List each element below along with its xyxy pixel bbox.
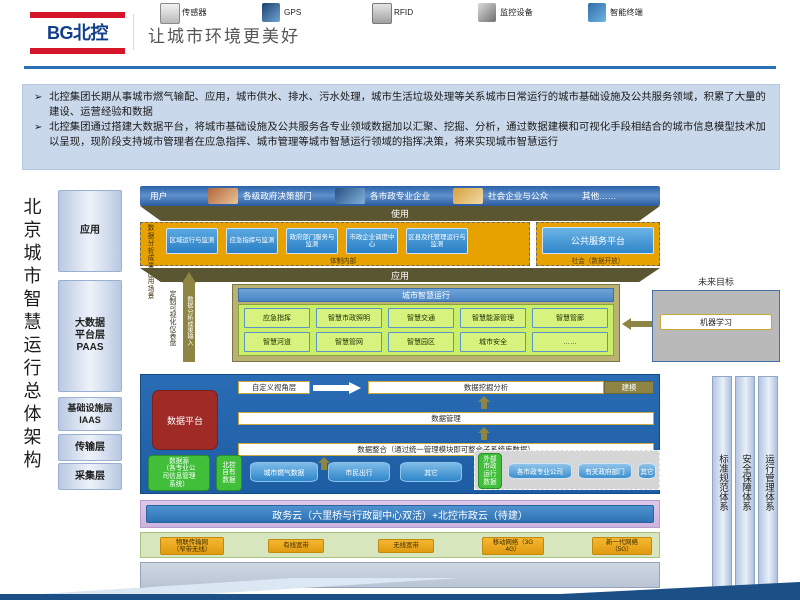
external-municipal-companies-label: 各市政专业公司 [517, 466, 563, 476]
app-button-dispatch-center[interactable]: 市政企业调度中心 [346, 228, 398, 254]
use-ribbon-label: 使用 [391, 207, 409, 220]
layer-bigdata-line2: 平台层 [75, 330, 105, 342]
smart-cell-river-label: 智慧河道 [263, 337, 291, 347]
app-button-district-ops-label: 区县及托管理运行与监测 [407, 234, 467, 249]
transmission-mobile-line2: 4G） [493, 546, 533, 553]
smart-cell-park[interactable]: 智慧园区 [388, 332, 454, 352]
slogan-text: 让城市环境更美好 [148, 22, 300, 47]
external-gov-departments-label: 有关政府部门 [585, 466, 625, 476]
app-button-gov-service-label: 政府部门服务与监测 [287, 234, 337, 249]
future-goal-label: 未来目标 [652, 274, 780, 288]
bottom-decoration [0, 574, 800, 600]
transmission-mobile-line1: 移动网络（3G [493, 539, 533, 546]
smart-cell-lighting-label: 智慧市政照明 [328, 313, 370, 323]
custom-view-layer[interactable]: 自定义视角层 [238, 381, 310, 394]
transmission-wireless-broadband[interactable]: 无线宽带 [378, 539, 434, 553]
smart-cell-pipe-network-label: 智慧管网 [335, 337, 363, 347]
smart-cell-energy[interactable]: 智慧能源管理 [460, 308, 526, 328]
source-citizen-travel-label: 市民出行 [345, 467, 372, 477]
smart-cell-city-safety-label: 城市安全 [479, 337, 507, 347]
layer-iaas-line1: 基础设施层 [67, 402, 112, 414]
data-input-arrow-icon: 数据分析成果输入 [182, 272, 196, 362]
transmission-wired-label: 有线宽带 [283, 542, 309, 549]
layer-infrastructure-iaas: 基础设施层 IAAS [58, 397, 122, 431]
government-cloud-button[interactable]: 政务云（六里桥与行政副中心双活）+北控市政云（待建） [146, 505, 654, 523]
transmission-iot-network[interactable]: 物联传输网 （窄带无线） [160, 537, 224, 555]
user-item-2: 社会企业与公众 [488, 186, 548, 206]
user-item-0: 各级政府决策部门 [243, 186, 312, 206]
internal-data-label: 北控 自有 数据 [216, 455, 242, 491]
transmission-nextgen-line1: 新一代网络 [606, 539, 638, 546]
data-platform-core-label: 数据平台 [167, 414, 203, 427]
smart-city-header-label: 城市智慧运行 [402, 290, 450, 301]
camera-icon [478, 3, 496, 22]
government-official-icon [208, 188, 238, 204]
app-button-emergency-command[interactable]: 应急指挥与监测 [226, 228, 278, 254]
apply-ribbon: 应用 [140, 268, 660, 282]
government-cloud-label: 政务云（六里桥与行政副中心双活）+北控市政云（待建） [272, 507, 528, 522]
internal-data-line2: 自有 [222, 469, 235, 477]
smart-cell-energy-label: 智慧能源管理 [472, 313, 514, 323]
smart-cell-river[interactable]: 智慧河道 [244, 332, 310, 352]
layer-column: 应用 大数据 平台层 PAAS 基础设施层 IAAS 传输层 采集层 [58, 190, 120, 588]
application-public-footer: 社会（数据开放） [540, 255, 656, 265]
logo-text: BG北控 [30, 19, 125, 47]
system-bar-operations: 运行管理体系 [758, 376, 778, 588]
logo-top-bar [30, 12, 125, 18]
smart-cell-traffic[interactable]: 智慧交通 [388, 308, 454, 328]
system-bar-security: 安全保障体系 [735, 376, 755, 588]
up-arrow-icon-1 [478, 396, 490, 409]
sensor-icon [160, 3, 180, 24]
layer-collection-label: 采集层 [75, 471, 105, 483]
source-other-internal-label: 其它 [424, 467, 438, 477]
public-citizens-icon [453, 188, 483, 204]
user-strip: 用户 各级政府决策部门 各市政专业企业 社会企业与公众 其他…… [140, 186, 660, 206]
layer-bigdata-line1: 大数据 [75, 318, 105, 330]
left-arrow-icon [622, 318, 652, 330]
apply-ribbon-label: 应用 [391, 269, 409, 282]
application-internal-footer-label: 体制内部 [330, 255, 356, 265]
user-item-1: 各市政专业企业 [370, 186, 430, 206]
public-service-platform-label: 公共服务平台 [571, 234, 625, 247]
external-data-label: 外部 市政 运行 数据 [478, 453, 502, 489]
bullet-marker-icon: ➢ [34, 91, 42, 106]
data-source-label: 数据源 （各专业公 司信息管理 系统） [148, 455, 210, 491]
layer-transmission-label: 传输层 [75, 442, 105, 454]
smart-cell-park-label: 智慧园区 [407, 337, 435, 347]
transmission-nextgen-line2: （5G） [606, 546, 638, 553]
smart-cell-emergency[interactable]: 应急指挥 [244, 308, 310, 328]
smart-cell-pipe-network[interactable]: 智慧管网 [316, 332, 382, 352]
layer-application: 应用 [58, 190, 122, 272]
smartphone-icon [588, 3, 606, 22]
smart-cell-pipe-gallery-label: 智慧管廊 [556, 313, 584, 323]
transmission-iot-line1: 物联传输网 [173, 539, 211, 546]
logo-divider [133, 14, 134, 50]
data-source-line3: 司信息管理 [163, 473, 196, 481]
data-mining-analysis-label: 数据挖掘分析 [464, 382, 508, 393]
logo-bottom-bar [30, 48, 125, 54]
collection-sensor-label: 传感器 [182, 4, 207, 22]
app-button-regional-ops[interactable]: 区域运行与监测 [166, 228, 218, 254]
external-data-line2: 市政 [483, 463, 496, 471]
smart-cell-city-safety[interactable]: 城市安全 [460, 332, 526, 352]
source-citizen-travel[interactable]: 市民出行 [328, 462, 390, 482]
public-service-platform-button[interactable]: 公共服务平台 [542, 227, 654, 254]
application-side-label: 数据分析成果应用场景 [141, 223, 161, 265]
machine-learning-label: 机器学习 [700, 317, 732, 328]
user-strip-title: 用户 [150, 186, 167, 206]
external-data-line3: 运行 [483, 471, 496, 479]
smart-cell-emergency-label: 应急指挥 [263, 313, 291, 323]
transmission-iot-line2: （窄带无线） [173, 546, 211, 553]
collection-smartterminal-label: 智能终端 [610, 4, 643, 22]
smart-cell-more[interactable]: …… [532, 332, 608, 352]
transmission-wired-broadband[interactable]: 有线宽带 [268, 539, 324, 553]
municipal-enterprise-icon [335, 188, 365, 204]
external-gov-departments[interactable]: 有关政府部门 [578, 463, 632, 479]
external-municipal-companies[interactable]: 各市政专业公司 [508, 463, 572, 479]
app-button-emergency-command-label: 应急指挥与监测 [230, 237, 275, 244]
data-source-line2: （各专业公 [163, 465, 196, 473]
header-rule [24, 66, 776, 69]
source-gas-data-label: 城市燃气数据 [264, 467, 305, 477]
rfid-icon [372, 3, 392, 24]
smart-city-header: 城市智慧运行 [238, 288, 614, 302]
application-public-footer-label: 社会（数据开放） [572, 255, 625, 265]
layer-collection: 采集层 [58, 463, 122, 490]
bullet-text-2: 北控集团通过搭建大数据平台，将城市基础设施及公共服务各专业领域数据加以汇聚、挖掘… [49, 122, 766, 148]
bullet-item-2: ➢ 北控集团通过搭建大数据平台，将城市基础设施及公共服务各专业领域数据加以汇聚、… [31, 121, 771, 150]
source-gas-data[interactable]: 城市燃气数据 [250, 462, 318, 482]
bullet-panel: ➢ 北控集团长期从事城市燃气输配、应用，城市供水、排水、污水处理，城市生活垃圾处… [22, 84, 780, 170]
smart-cell-pipe-gallery[interactable]: 智慧管廊 [532, 308, 608, 328]
external-other[interactable]: 其它 [638, 463, 656, 479]
company-logo: BG北控 [30, 12, 125, 54]
dashboard-vertical-label: 定制可视化仪表盘 [166, 276, 178, 360]
app-button-regional-ops-label: 区域运行与监测 [170, 237, 215, 244]
data-source-line4: 系统） [163, 481, 196, 489]
app-button-gov-service[interactable]: 政府部门服务与监测 [286, 228, 338, 254]
gps-icon [262, 3, 280, 22]
bullet-item-1: ➢ 北控集团长期从事城市燃气输配、应用，城市供水、排水、污水处理，城市生活垃圾处… [31, 91, 771, 120]
transmission-wireless-label: 无线宽带 [393, 542, 419, 549]
transmission-mobile-network[interactable]: 移动网络（3G 4G） [482, 537, 544, 555]
modeling-label: 建模 [622, 382, 637, 393]
source-other-internal[interactable]: 其它 [400, 462, 462, 482]
user-item-3: 其他…… [582, 186, 616, 206]
data-mining-analysis[interactable]: 数据挖掘分析 [368, 381, 604, 394]
up-arrow-icon-2 [478, 427, 490, 440]
modeling-bar[interactable]: 建模 [604, 381, 654, 394]
slide-canvas: BG北控 让城市环境更美好 ➢ 北控集团长期从事城市燃气输配、应用，城市供水、排… [0, 0, 800, 600]
collection-rfid-label: RFID [394, 4, 413, 22]
data-management-bar[interactable]: 数据管理 [238, 412, 654, 425]
machine-learning-button[interactable]: 机器学习 [660, 314, 772, 330]
layer-application-label: 应用 [80, 225, 100, 237]
layer-transmission: 传输层 [58, 434, 122, 461]
system-bar-standards: 标准规范体系 [712, 376, 732, 588]
page-title-vertical: 北京城市智慧运行总体架构 [18, 196, 48, 586]
internal-data-line3: 数据 [222, 477, 235, 485]
layer-bigdata-paas: 大数据 平台层 PAAS [58, 280, 122, 392]
transmission-next-gen-network[interactable]: 新一代网络 （5G） [592, 537, 652, 555]
smart-cell-lighting[interactable]: 智慧市政照明 [316, 308, 382, 328]
data-input-arrow-label: 数据分析成果输入 [183, 288, 195, 354]
app-button-district-ops[interactable]: 区县及托管理运行与监测 [406, 228, 468, 254]
bullet-text-1: 北控集团长期从事城市燃气输配、应用，城市供水、排水、污水处理，城市生活垃圾处理等… [49, 92, 766, 118]
app-button-dispatch-center-label: 市政企业调度中心 [347, 234, 397, 249]
use-ribbon: 使用 [140, 206, 660, 221]
smart-cell-more-label: …… [563, 339, 577, 346]
data-management-label: 数据管理 [431, 413, 461, 424]
application-internal-footer: 体制内部 [160, 255, 526, 265]
layer-iaas-line2: IAAS [67, 414, 112, 426]
collection-gps-label: GPS [284, 4, 301, 22]
external-other-label: 其它 [640, 466, 653, 476]
collection-camera-label: 监控设备 [500, 4, 533, 22]
right-arrow-icon [313, 383, 363, 393]
bullet-marker-icon: ➢ [34, 121, 42, 136]
layer-bigdata-line3: PAAS [75, 342, 105, 354]
external-data-line4: 数据 [483, 479, 496, 487]
data-platform-core: 数据平台 [152, 390, 218, 450]
smart-cell-traffic-label: 智慧交通 [407, 313, 435, 323]
custom-view-layer-label: 自定义视角层 [252, 382, 296, 393]
